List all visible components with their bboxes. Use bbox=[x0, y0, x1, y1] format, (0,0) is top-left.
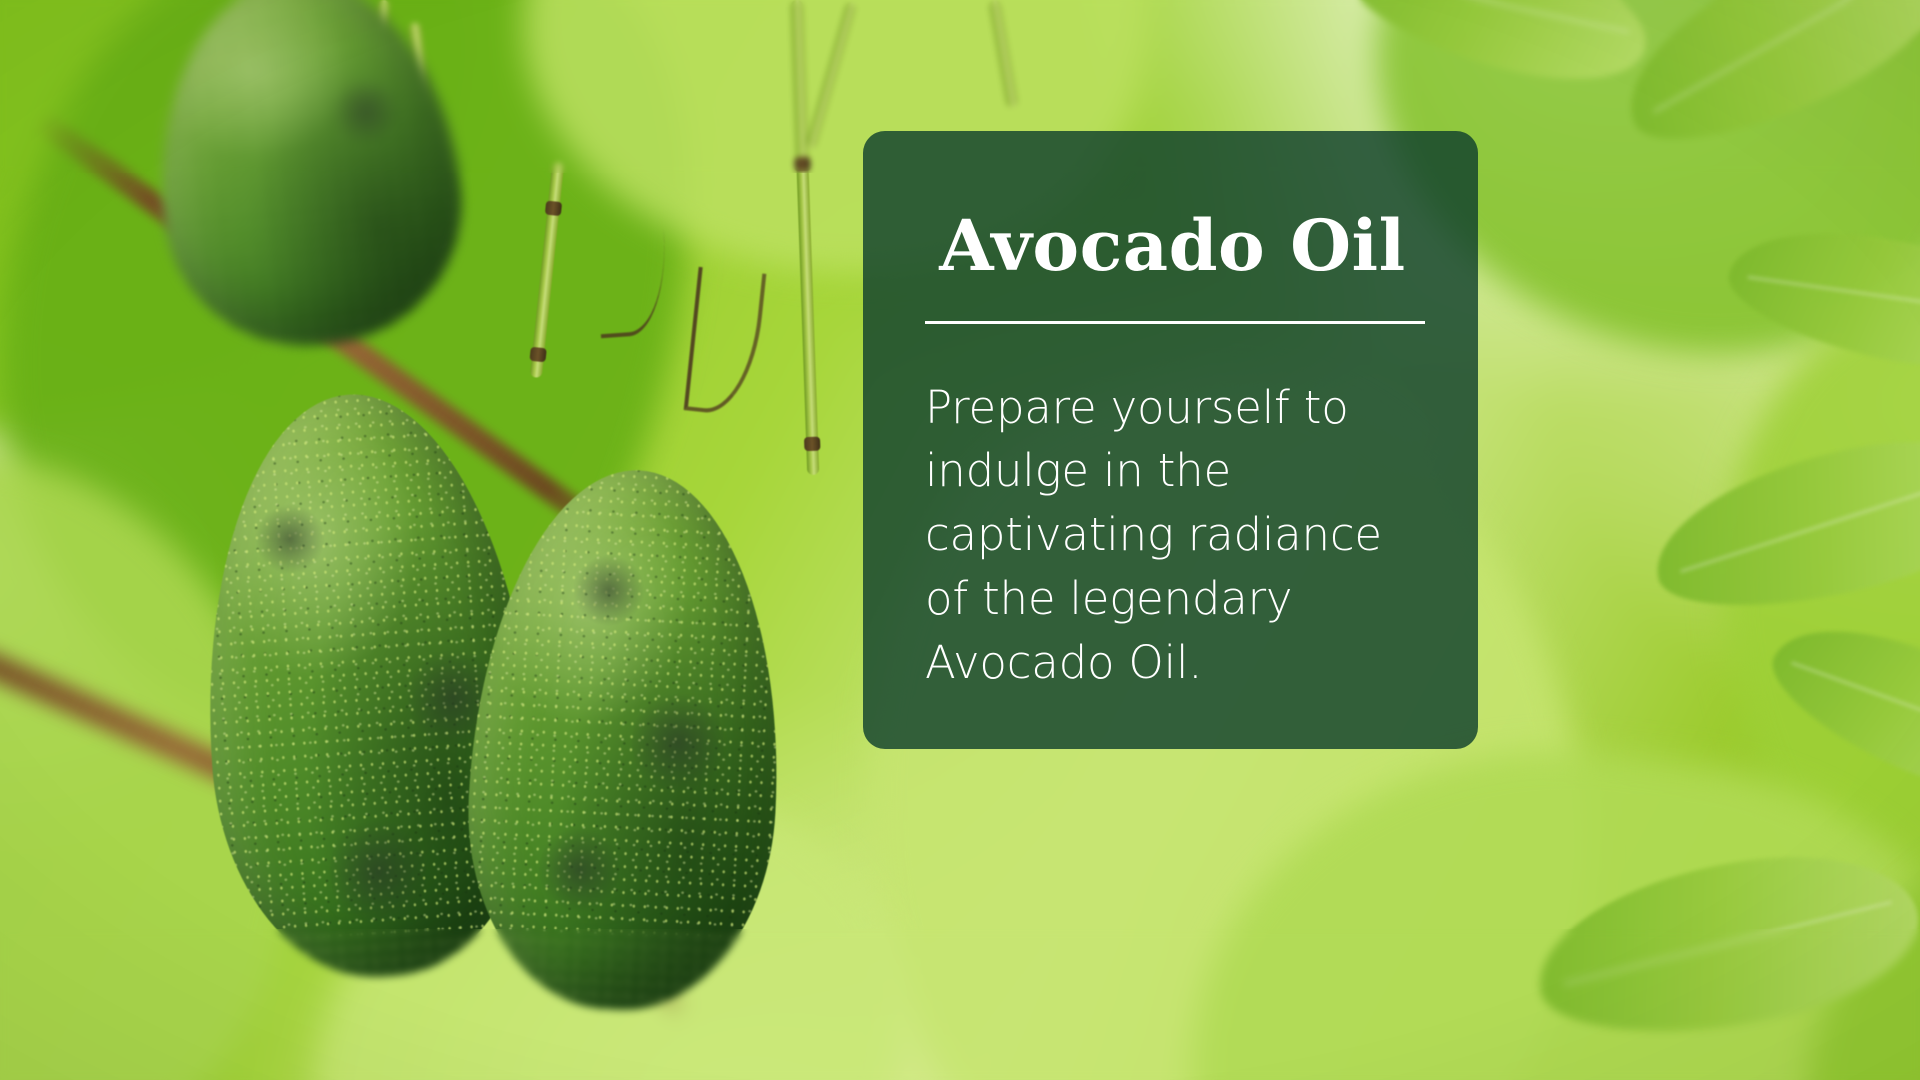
card-body-text: Prepare yourself to indulge in the capti… bbox=[925, 376, 1420, 695]
card-title: Avocado Oil bbox=[925, 209, 1420, 283]
title-divider bbox=[925, 321, 1425, 324]
body-line: captivating radiance bbox=[925, 503, 1420, 567]
product-info-card: Avocado Oil Prepare yourself to indulge … bbox=[863, 131, 1478, 749]
body-line: indulge in the bbox=[925, 439, 1420, 503]
body-line: Avocado Oil. bbox=[925, 631, 1420, 695]
promo-banner: Avocado Oil Prepare yourself to indulge … bbox=[0, 0, 1920, 1080]
body-line: Prepare yourself to bbox=[925, 376, 1420, 440]
body-line: of the legendary bbox=[925, 567, 1420, 631]
